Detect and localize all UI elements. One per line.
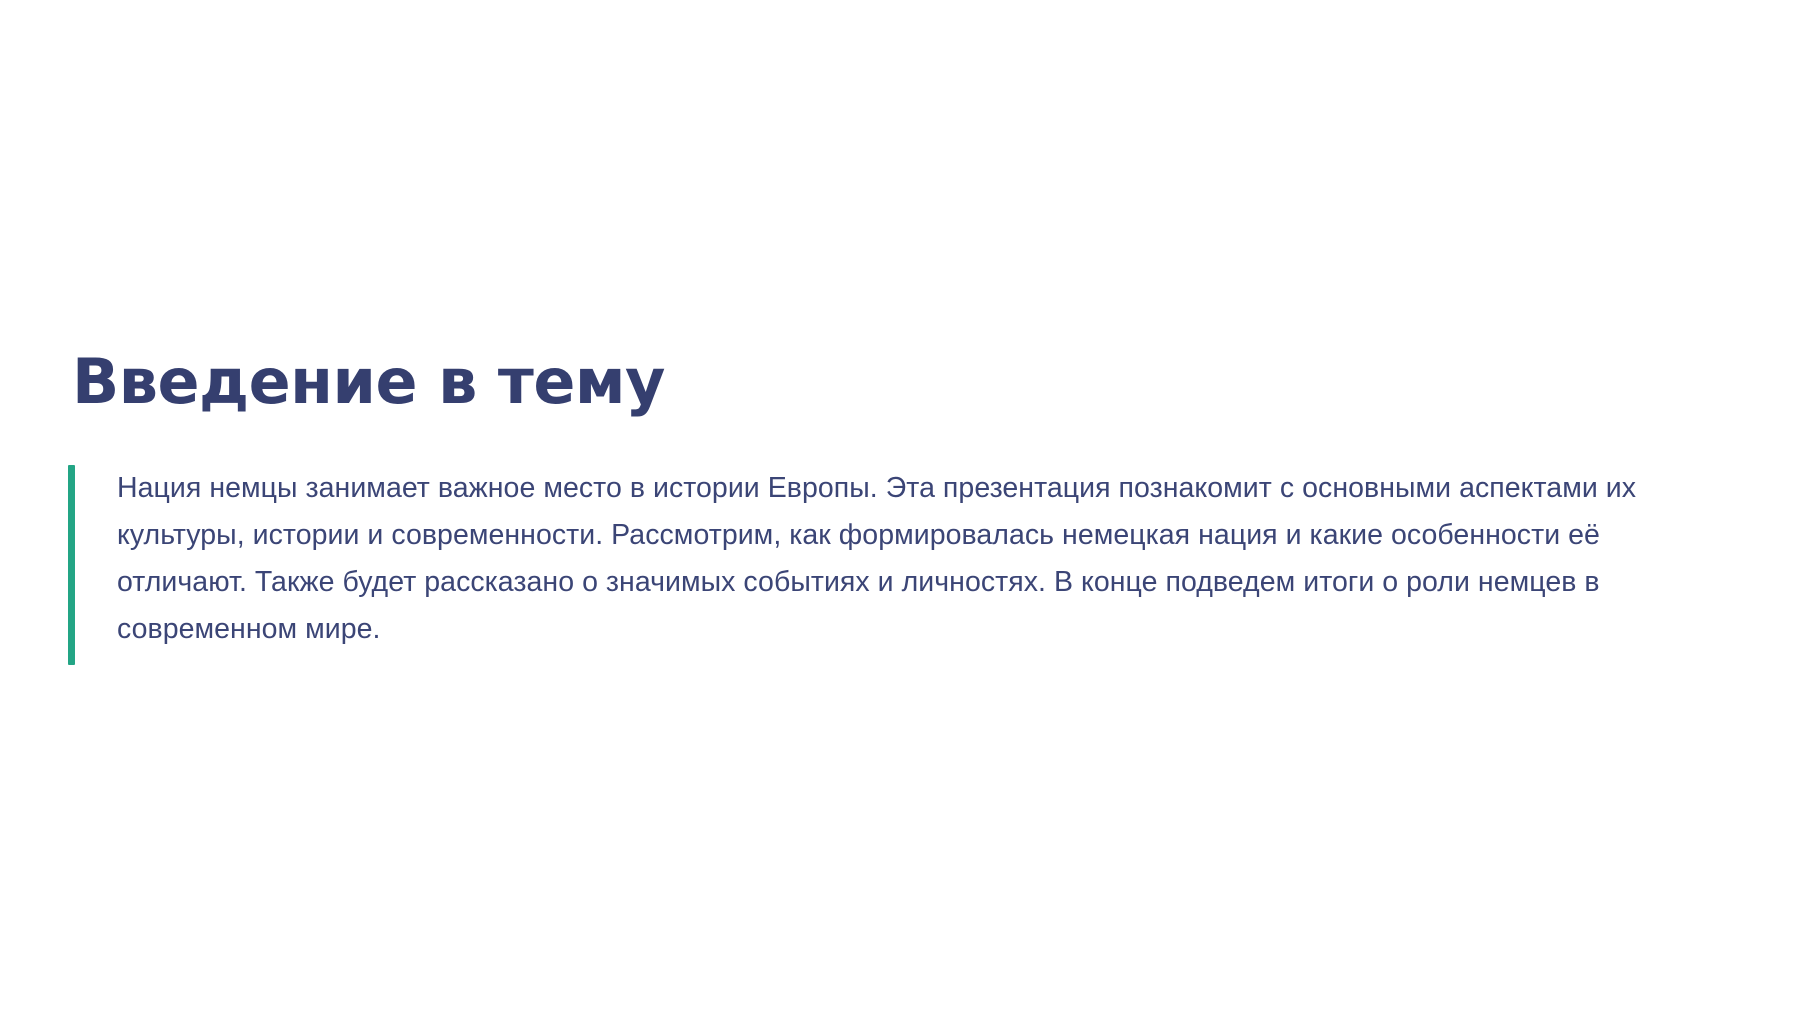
slide-content-area: Введение в тему Нация немцы занимает важ… — [0, 0, 1800, 1013]
accent-bar — [68, 465, 75, 665]
presentation-slide: Введение в тему Нация немцы занимает важ… — [0, 0, 1800, 1013]
page-title: Введение в тему — [72, 349, 665, 416]
body-text-block: Нация немцы занимает важное место в исто… — [68, 465, 1728, 665]
body-paragraph: Нация немцы занимает важное место в исто… — [75, 465, 1728, 665]
